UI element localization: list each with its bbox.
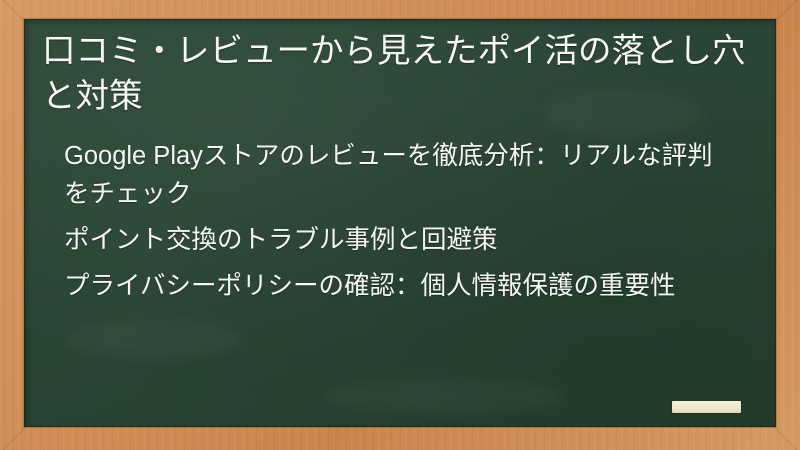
- slide-bullet-item: プライバシーポリシーの確認：個人情報保護の重要性: [34, 267, 758, 305]
- chalk-dust-smudge: [64, 319, 244, 359]
- chalkboard-surface: 口コミ・レビューから見えたポイ活の落とし穴と対策 Google Playストアの…: [24, 19, 776, 427]
- chalkboard-frame: 口コミ・レビューから見えたポイ活の落とし穴と対策 Google Playストアの…: [0, 0, 800, 450]
- slide-bullet-item: ポイント交換のトラブル事例と回避策: [34, 221, 758, 259]
- slide-bullet-item: Google Playストアのレビューを徹底分析：リアルな評判をチェック: [34, 137, 758, 213]
- slide-title: 口コミ・レビューから見えたポイ活の落とし穴と対策: [34, 29, 758, 119]
- chalk-stick-icon: [672, 401, 741, 413]
- chalk-dust-smudge: [324, 379, 564, 413]
- slide-bullet-list: Google Playストアのレビューを徹底分析：リアルな評判をチェック ポイン…: [34, 137, 758, 305]
- slide-content: 口コミ・レビューから見えたポイ活の落とし穴と対策 Google Playストアの…: [24, 19, 776, 313]
